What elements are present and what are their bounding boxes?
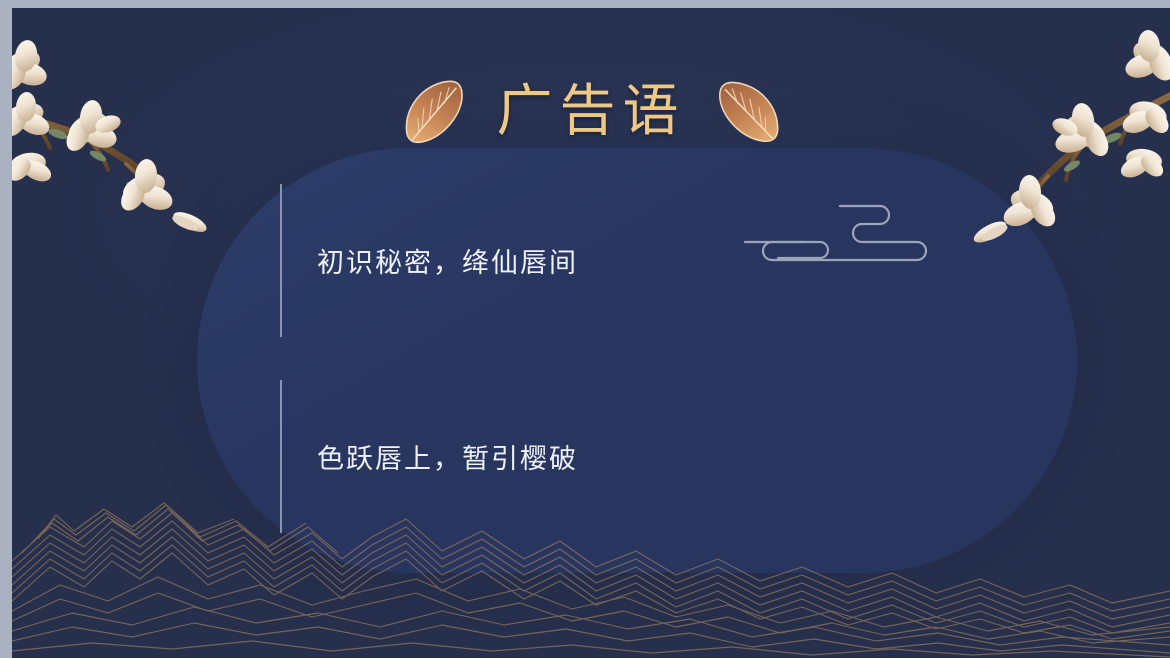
leaf-ornament-left-icon <box>388 72 476 152</box>
chinese-cloud-motif-icon <box>712 193 942 273</box>
slide-viewer: 广告语 初识秘密 <box>0 0 1170 658</box>
title-row: 广告语 <box>12 66 1170 158</box>
page-title: 广告语 <box>497 84 686 140</box>
accent-line-1 <box>280 184 282 337</box>
presentation-slide: 广告语 初识秘密 <box>12 8 1170 658</box>
leaf-ornament-right-icon <box>707 74 791 150</box>
slogan-text-2: 色跃唇上，暂引樱破 <box>317 437 578 476</box>
mountain-contour-pattern-icon <box>12 493 1170 658</box>
slogan-text-1: 初识秘密，绛仙唇间 <box>317 241 578 280</box>
slogan-block-1: 初识秘密，绛仙唇间 <box>280 184 578 337</box>
